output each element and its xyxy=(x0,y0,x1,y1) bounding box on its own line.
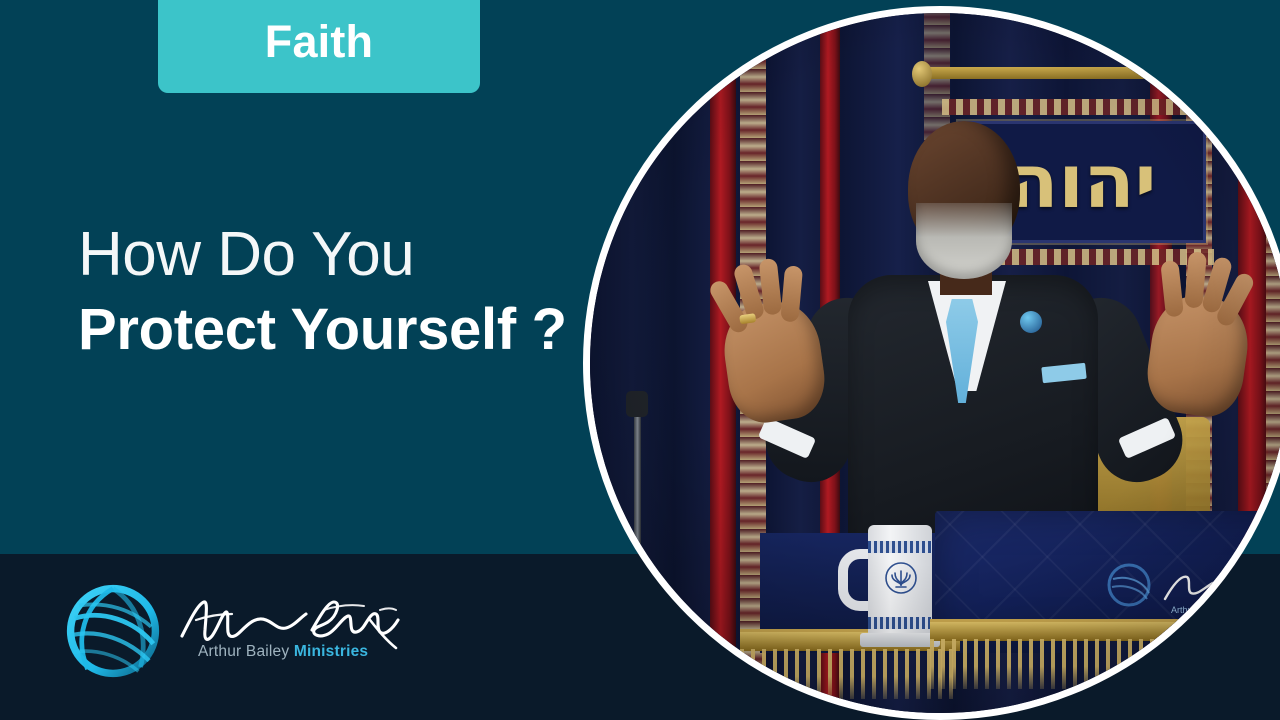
title-line-2: Protect Yourself ? xyxy=(78,298,598,362)
podium-fringe xyxy=(930,619,1280,641)
banner-rod xyxy=(920,67,1210,79)
brand-text: Arthur Bailey Ministries xyxy=(174,586,404,676)
stein-band-bottom xyxy=(868,617,932,629)
brand-name-suffix: Ministries xyxy=(294,643,368,660)
podium-logo: Arthur Bailey Ministries xyxy=(1103,563,1280,619)
brand-logo[interactable]: Arthur Bailey Ministries xyxy=(60,578,404,684)
title-line-1: How Do You xyxy=(78,222,598,288)
podium-tassels xyxy=(930,639,1280,689)
speaker-photo-circle: יהוה xyxy=(583,6,1280,720)
category-badge-label: Faith xyxy=(265,19,374,68)
stein-base xyxy=(860,633,940,647)
banner-rod-knob xyxy=(912,61,932,87)
side-table-tassels xyxy=(740,649,960,699)
banner-rod-knob xyxy=(1200,61,1220,87)
menorah-icon xyxy=(884,561,918,595)
microphone-head xyxy=(626,391,648,417)
stein-band-top xyxy=(868,541,932,553)
title-block: How Do You Protect Yourself ? xyxy=(78,222,598,362)
thumbnail-canvas: Faith How Do You Protect Yourself ? xyxy=(0,0,1280,720)
gold-ring xyxy=(739,313,756,324)
brand-name-primary: Arthur Bailey xyxy=(198,643,289,660)
speaker-photo: יהוה xyxy=(590,13,1280,713)
speaker-beard xyxy=(916,203,1012,279)
brand-name-line: Arthur Bailey Ministries xyxy=(198,643,368,661)
category-badge[interactable]: Faith xyxy=(158,0,480,93)
lapel-pin-icon xyxy=(1020,311,1042,333)
podium-caption: Arthur Bailey Ministries xyxy=(1171,605,1264,615)
microphone-stand xyxy=(634,405,641,645)
banner-braid-border xyxy=(942,99,1214,115)
globe-icon xyxy=(60,578,166,684)
